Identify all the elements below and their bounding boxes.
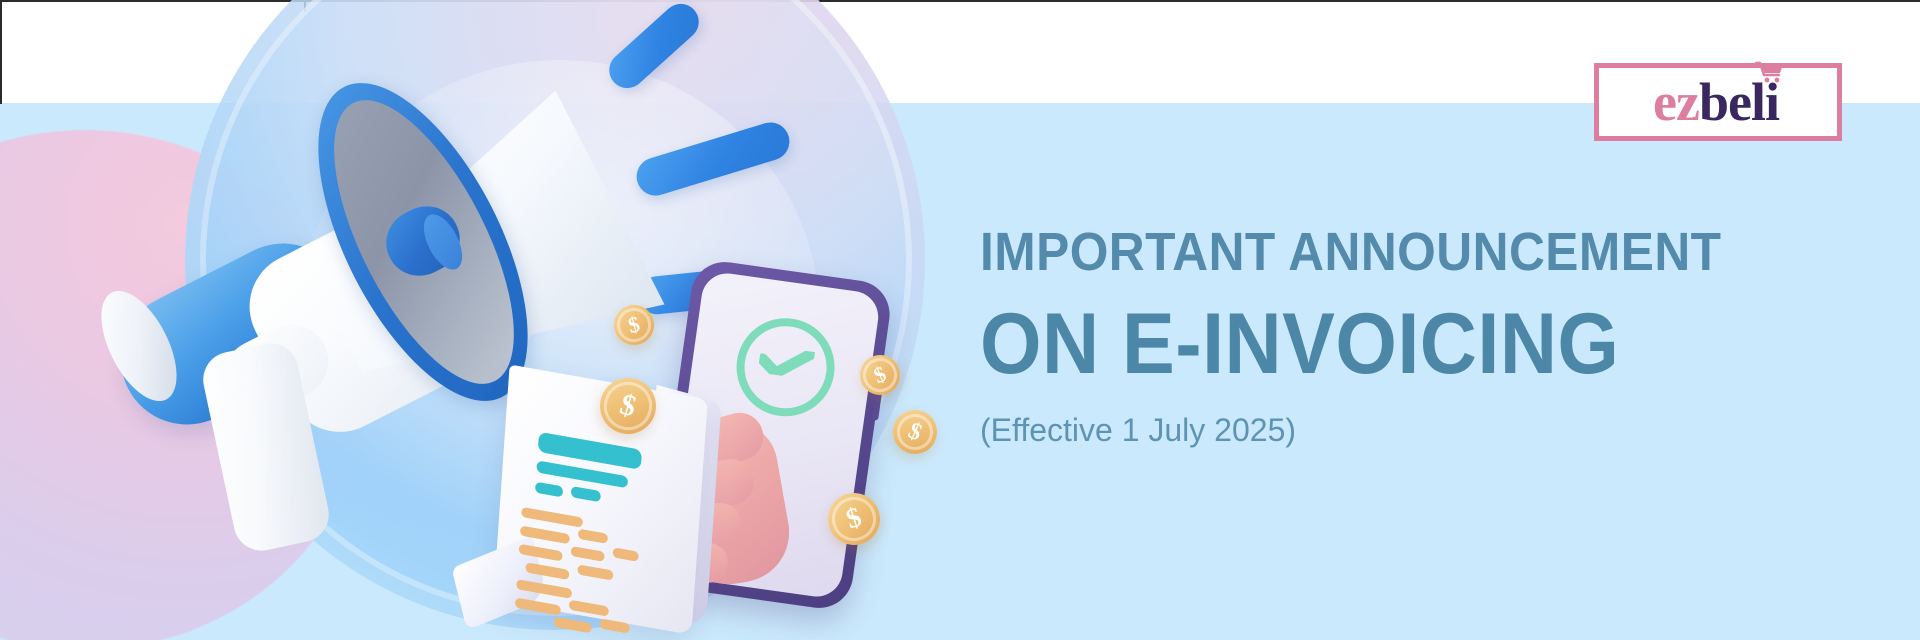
effective-date-subline: (Effective 1 July 2025) bbox=[980, 413, 1820, 448]
ezbeli-logo[interactable]: ezbeli bbox=[1594, 63, 1842, 141]
headline-line-1: IMPORTANT ANNOUNCEMENT bbox=[980, 225, 1753, 279]
announcement-banner: $ $ $ $ $ IMPORTANT ANNOUNCEMENT ON E-IN… bbox=[0, 0, 1920, 640]
shopping-cart-icon bbox=[1755, 61, 1785, 83]
announcement-text-block: IMPORTANT ANNOUNCEMENT ON E-INVOICING (E… bbox=[980, 225, 1820, 448]
logo-text-ez: ez bbox=[1653, 72, 1699, 132]
headline-line-2: ON E-INVOICING bbox=[980, 301, 1753, 387]
top-edge-rule-left bbox=[0, 0, 305, 2]
left-edge-rule bbox=[0, 0, 2, 104]
logo-wordmark: ezbeli bbox=[1653, 75, 1783, 129]
